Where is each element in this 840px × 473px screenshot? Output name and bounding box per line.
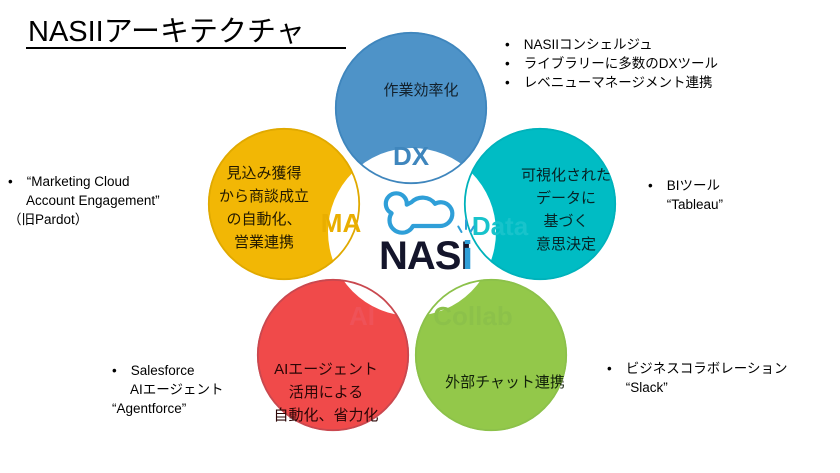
- circle-body-ai: AIエージェント 活用による 自動化、省力化: [273, 361, 378, 424]
- bullet-dot-icon: •: [112, 361, 127, 380]
- callout-line: • NASIIコンシェルジュ: [505, 35, 718, 54]
- callout-line-text: BIツール: [663, 178, 720, 193]
- callout-line: • ビジネスコラボレーション: [607, 359, 787, 378]
- callout-line-text: “Slack”: [622, 380, 668, 395]
- callout-line: “Tableau”: [648, 195, 723, 214]
- callout-line: AIエージェント: [112, 380, 224, 399]
- svg-text:意思決定: 意思決定: [536, 235, 596, 253]
- callout-line-text: ビジネスコラボレーション: [622, 361, 787, 376]
- callout-line: （旧Pardot）: [8, 210, 160, 229]
- circle-label-ai: AI: [349, 301, 375, 331]
- callout-line: • Salesforce: [112, 361, 224, 380]
- dx-callout: • NASIIコンシェルジュ• ライブラリーに多数のDXツール• レベニューマネ…: [505, 35, 718, 92]
- callout-line: • BIツール: [648, 176, 723, 195]
- collab-callout: • ビジネスコラボレーション “Slack”: [607, 359, 787, 397]
- callout-line-text: Salesforce: [127, 363, 195, 378]
- callout-line-text: （旧Pardot）: [8, 212, 88, 227]
- cloud-infinity-mark: [386, 193, 453, 232]
- circle-label-data: Data: [472, 211, 529, 241]
- bullet-dot-icon: •: [505, 73, 520, 92]
- svg-text:外部チャット連携: 外部チャット連携: [445, 374, 565, 391]
- svg-text:AIエージェント: AIエージェント: [274, 361, 378, 378]
- svg-text:営業連携: 営業連携: [234, 234, 294, 251]
- callout-line: Account Engagement”: [8, 191, 160, 210]
- circle-body-dx: 作業効率化: [383, 82, 458, 99]
- bullet-dot-icon: •: [8, 172, 23, 191]
- svg-text:作業効率化: 作業効率化: [383, 82, 458, 99]
- callout-line-text: Account Engagement”: [23, 193, 160, 208]
- callout-line: • レベニューマネージメント連携: [505, 73, 718, 92]
- svg-text:から商談成立: から商談成立: [219, 188, 309, 205]
- bullet-dot-icon: •: [607, 359, 622, 378]
- circle-label-dx: DX: [393, 141, 430, 171]
- callout-line-text: レベニューマネージメント連携: [520, 75, 712, 90]
- callout-line: “Slack”: [607, 378, 787, 397]
- bullet-dot-icon: •: [648, 176, 663, 195]
- svg-text:NASI: NASI: [379, 234, 471, 278]
- svg-text:基づく: 基づく: [543, 213, 588, 230]
- callout-line-text: NASIIコンシェルジュ: [520, 37, 653, 52]
- callout-line-text: “Marketing Cloud: [23, 174, 130, 189]
- callout-line-text: AIエージェント: [127, 382, 224, 397]
- callout-line-text: ライブラリーに多数のDXツール: [520, 56, 718, 71]
- ai-callout: • Salesforce AIエージェント“Agentforce”: [112, 361, 224, 418]
- svg-text:i: i: [462, 234, 473, 278]
- callout-line-text: “Tableau”: [663, 197, 723, 212]
- callout-line-text: “Agentforce”: [112, 401, 186, 416]
- svg-text:活用による: 活用による: [289, 384, 364, 401]
- ma-callout: • “Marketing Cloud Account Engagement”（旧…: [8, 172, 160, 229]
- callout-line: • ライブラリーに多数のDXツール: [505, 54, 718, 73]
- svg-text:の自動化、: の自動化、: [226, 211, 301, 228]
- svg-text:データに: データに: [536, 189, 596, 207]
- bullet-dot-icon: •: [505, 54, 520, 73]
- svg-text:自動化、省力化: 自動化、省力化: [273, 407, 378, 424]
- svg-text:見込み獲得: 見込み獲得: [226, 165, 301, 182]
- callout-line: • “Marketing Cloud: [8, 172, 160, 191]
- bullet-dot-icon: •: [505, 35, 520, 54]
- data-callout: • BIツール “Tableau”: [648, 176, 723, 214]
- svg-text:可視化された: 可視化された: [521, 167, 611, 184]
- circle-body-collab: 外部チャット連携: [445, 374, 565, 391]
- circle-label-ma: MA: [321, 208, 362, 238]
- callout-line: “Agentforce”: [112, 399, 224, 418]
- circle-label-collab: Collab: [433, 301, 512, 331]
